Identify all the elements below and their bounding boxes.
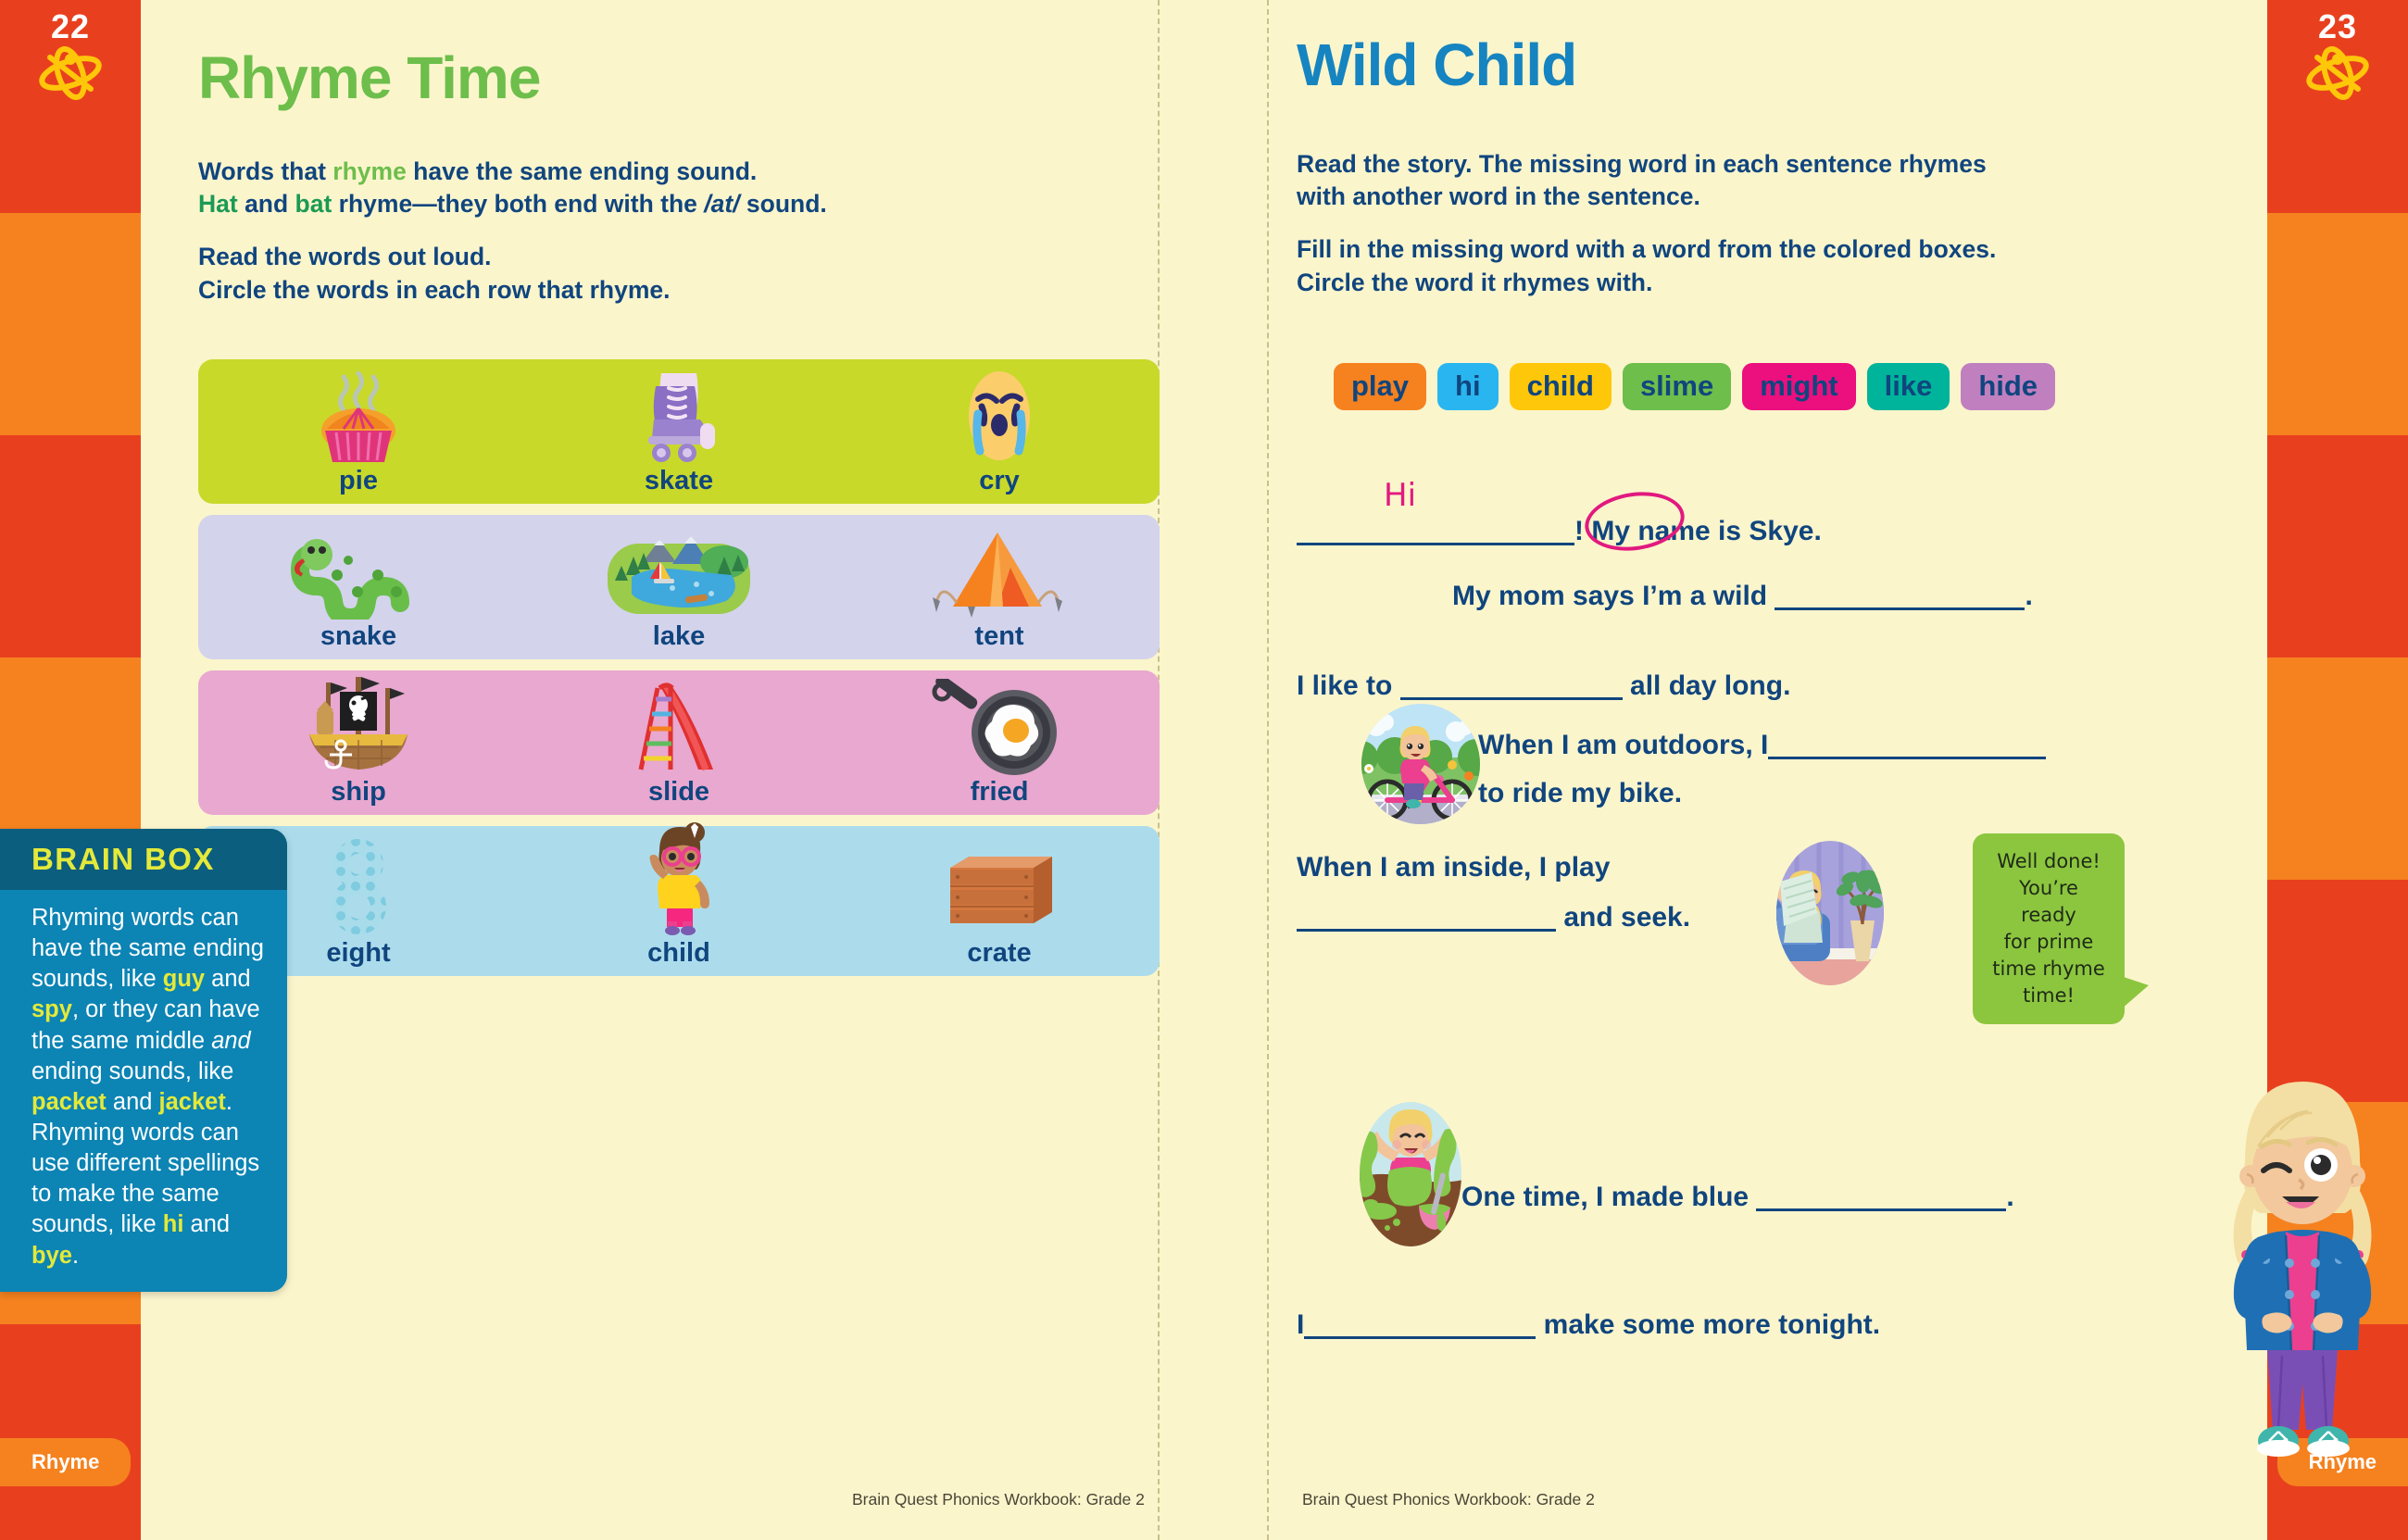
story-text: My mom says I’m a wild: [1452, 581, 1775, 611]
bb-word-hi: hi: [163, 1211, 184, 1237]
stripe: [0, 213, 141, 435]
story-text: When I am outdoors, I: [1478, 730, 1768, 760]
word-label: slide: [519, 777, 839, 808]
answer-blank-6[interactable]: [1756, 1180, 2006, 1211]
stripe: [2267, 657, 2408, 880]
bubble-line-5: time!: [1989, 983, 2108, 1009]
story-line-5: When I am inside, I play: [1297, 852, 1610, 883]
story-line-1[interactable]: ! My name is Skye.: [1297, 514, 1822, 547]
rhyme-row[interactable]: snake: [198, 515, 1160, 659]
story-line-3[interactable]: I like to all day long.: [1297, 669, 1790, 702]
intro-line-3: Read the words out loud.: [198, 241, 1106, 273]
word-cell[interactable]: child: [519, 840, 839, 969]
word-label: tent: [839, 621, 1160, 652]
story-line-7[interactable]: I make some more tonight.: [1297, 1308, 1880, 1341]
footer-left: Brain Quest Phonics Workbook: Grade 2: [852, 1490, 1145, 1509]
bb-italic-and: and: [211, 1028, 251, 1054]
spacer: [1297, 213, 2241, 233]
word-chip-like[interactable]: like: [1867, 363, 1950, 410]
tent-icon: [839, 523, 1160, 620]
bb-text: and: [205, 966, 251, 992]
intro-highlight-rhyme: rhyme: [332, 157, 407, 185]
story-line-6[interactable]: One time, I made blue .: [1461, 1180, 2014, 1213]
story-text: .: [2025, 581, 2032, 611]
left-stripe-rail: [0, 0, 141, 1540]
word-cell[interactable]: cry: [839, 368, 1160, 496]
intro-phoneme-at: /at/: [704, 190, 739, 218]
left-instructions: Words that rhyme have the same ending so…: [198, 156, 1106, 307]
story-line-5b[interactable]: and seek.: [1297, 900, 1690, 933]
intro-text: and: [238, 190, 295, 218]
answer-blank-3[interactable]: [1400, 669, 1623, 700]
intro-text: sound.: [740, 190, 827, 218]
page-title-right: Wild Child: [1297, 35, 1576, 94]
word-cell[interactable]: slide: [519, 679, 839, 808]
story-text: I: [1297, 1309, 1304, 1340]
intro-line-1: Words that rhyme have the same ending so…: [198, 156, 1106, 188]
right-instructions: Read the story. The missing word in each…: [1297, 148, 2241, 299]
bubble-line-2: You’re ready: [1989, 875, 2108, 929]
story-text: .: [2006, 1182, 2013, 1212]
answer-blank-4[interactable]: [1768, 728, 2046, 759]
skill-tag-left: Rhyme: [0, 1438, 131, 1486]
circled-word-skye: Skye.: [1749, 516, 1821, 546]
child-girl-icon: [519, 840, 839, 936]
rhyme-rows: pie: [198, 359, 1160, 987]
answer-blank-1[interactable]: [1297, 514, 1574, 545]
girl-on-bike-illustration: [1343, 704, 1499, 824]
intro-line-2: Hat and bat rhyme—they both end with the…: [198, 188, 1106, 220]
word-label: child: [519, 938, 839, 969]
mascot-speech-bubble: Well done! You’re ready for prime time r…: [1973, 833, 2125, 1024]
word-label: crate: [839, 938, 1160, 969]
word-label: cry: [839, 466, 1160, 496]
intro-line-4: Circle the words in each row that rhyme.: [198, 274, 1106, 307]
page-number-left: 22: [0, 7, 141, 46]
pie-icon: [198, 368, 519, 464]
intro-text: Words that: [198, 157, 332, 185]
story-text: I like to: [1297, 670, 1400, 701]
snake-icon: [198, 523, 519, 620]
word-label: pie: [198, 466, 519, 496]
lake-icon: [519, 523, 839, 620]
skate-icon: [519, 368, 839, 464]
intro-highlight-bat: bat: [295, 190, 332, 218]
bb-word-spy: spy: [31, 996, 72, 1022]
handwritten-answer-hi: Hi: [1384, 477, 1416, 514]
word-chip-play[interactable]: play: [1334, 363, 1426, 410]
slide-icon: [519, 679, 839, 775]
word-cell[interactable]: pie: [198, 368, 519, 496]
rhyme-row[interactable]: ship: [198, 670, 1160, 815]
word-label: skate: [519, 466, 839, 496]
stripe: [0, 435, 141, 657]
bubble-line-3: for prime: [1989, 929, 2108, 956]
intro-text: rhyme—they both end with the: [332, 190, 704, 218]
brain-box-heading: BRAIN BOX: [0, 829, 287, 890]
spacer: [198, 220, 1106, 241]
word-chip-hi[interactable]: hi: [1437, 363, 1499, 410]
word-chip-slime[interactable]: slime: [1623, 363, 1731, 410]
word-cell[interactable]: snake: [198, 523, 519, 652]
word-chip-might[interactable]: might: [1742, 363, 1855, 410]
story-line-2[interactable]: My mom says I’m a wild .: [1452, 579, 2033, 612]
bb-word-packet: packet: [31, 1089, 107, 1115]
girl-reading-sofa-illustration: [1760, 841, 1900, 985]
right-intro-2a: Fill in the missing word with a word fro…: [1297, 233, 2241, 266]
word-cell[interactable]: ship: [198, 679, 519, 808]
bb-word-bye: bye: [31, 1243, 72, 1269]
story-text: One time, I made blue: [1461, 1182, 1756, 1212]
girl-making-slime-illustration: [1345, 1102, 1476, 1246]
story-line-4[interactable]: When I am outdoors, I: [1478, 728, 2046, 761]
fried-egg-pan-icon: [839, 679, 1160, 775]
bb-text: and: [107, 1089, 159, 1115]
story-text: all day long.: [1623, 670, 1791, 701]
word-cell[interactable]: tent: [839, 523, 1160, 652]
bubble-line-4: time rhyme: [1989, 956, 2108, 983]
right-intro-2b: Circle the word it rhymes with.: [1297, 267, 2241, 299]
word-label: fried: [839, 777, 1160, 808]
rhyme-row[interactable]: eight: [198, 826, 1160, 976]
intro-text: have the same ending sound.: [407, 157, 757, 185]
word-cell[interactable]: crate: [839, 840, 1160, 969]
left-page: Rhyme Time Words that rhyme have the sam…: [141, 0, 1160, 1540]
word-cell[interactable]: fried: [839, 679, 1160, 808]
word-chip-hide[interactable]: hide: [1961, 363, 2055, 410]
gutter-line-right: [1267, 0, 1269, 1540]
word-cell[interactable]: lake: [519, 523, 839, 652]
workbook-spread: 22 23: [0, 0, 2408, 1540]
crate-icon: [839, 840, 1160, 936]
rhyme-row[interactable]: pie: [198, 359, 1160, 504]
story-text: and seek.: [1556, 902, 1690, 933]
brain-quest-atom-icon: [2267, 46, 2408, 105]
right-intro-1a: Read the story. The missing word in each…: [1297, 148, 2241, 181]
page-title-left: Rhyme Time: [198, 48, 540, 107]
stripe: [2267, 880, 2408, 1102]
word-bank: play hi child slime might like hide: [1334, 363, 2055, 410]
answer-blank-7[interactable]: [1304, 1308, 1536, 1339]
story-line-4b: to ride my bike.: [1478, 778, 1682, 809]
bb-text: ending sounds, like: [31, 1058, 233, 1084]
bb-word-jacket: jacket: [159, 1089, 226, 1115]
story-text: make some more tonight.: [1536, 1309, 1880, 1340]
bubble-line-1: Well done!: [1989, 848, 2108, 875]
crying-face-icon: [839, 368, 1160, 464]
word-label: lake: [519, 621, 839, 652]
right-page: Wild Child Read the story. The missing w…: [1297, 0, 2267, 1540]
brain-quest-atom-icon: [0, 46, 141, 105]
brain-box-body: Rhyming words can have the same ending s…: [0, 890, 287, 1292]
answer-blank-5[interactable]: [1297, 900, 1556, 932]
pirate-ship-icon: [198, 679, 519, 775]
stripe: [2267, 435, 2408, 657]
bb-word-guy: guy: [163, 966, 205, 992]
stripe: [2267, 213, 2408, 435]
word-chip-child[interactable]: child: [1510, 363, 1612, 410]
answer-blank-2[interactable]: [1775, 579, 2025, 610]
mascot-girl-illustration: [2197, 1072, 2408, 1461]
intro-highlight-hat: Hat: [198, 190, 238, 218]
word-label: snake: [198, 621, 519, 652]
page-number-right: 23: [2267, 7, 2408, 46]
bb-text: and: [183, 1211, 230, 1237]
word-cell[interactable]: skate: [519, 368, 839, 496]
word-label: ship: [198, 777, 519, 808]
stripe: [0, 1324, 141, 1540]
brain-box: BRAIN BOX Rhyming words can have the sam…: [0, 829, 287, 1292]
bb-text: .: [72, 1243, 79, 1269]
right-intro-1b: with another word in the sentence.: [1297, 181, 2241, 213]
